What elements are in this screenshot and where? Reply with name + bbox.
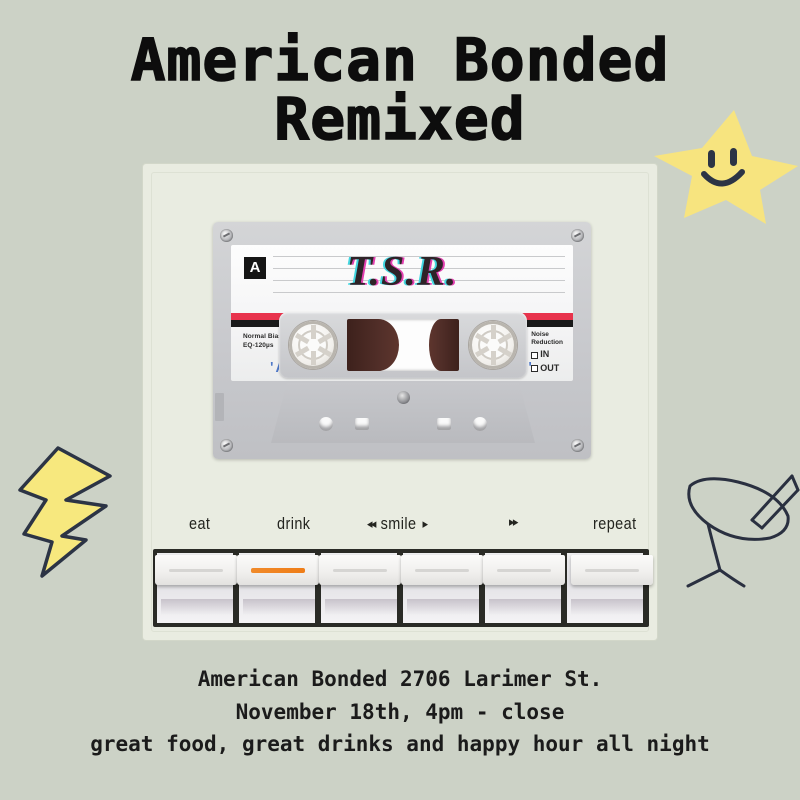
bias-line-2: EQ-120µs (243, 342, 282, 351)
button-cap[interactable] (483, 555, 565, 585)
cassette-player-panel: A T.S.R. Normal Bias EQ-120µs Noise Redu… (142, 163, 658, 641)
transport-button-drink[interactable] (237, 551, 317, 625)
venue-address: American Bonded 2706 Larimer St. (0, 663, 800, 696)
button-cap[interactable] (401, 555, 483, 585)
screw-icon (571, 439, 584, 452)
capstan-hole (319, 417, 333, 431)
transport-button-repeat[interactable] (565, 551, 645, 625)
button-cap[interactable] (237, 555, 319, 585)
transport-label-drink: drink (277, 514, 310, 534)
transport-button-eat[interactable] (155, 551, 235, 625)
transport-button-play[interactable] (401, 551, 481, 625)
noise-title-line-1: Noise (531, 331, 563, 339)
reel-left (289, 321, 337, 369)
reel-right (469, 321, 517, 369)
button-groove (415, 569, 469, 572)
button-cap[interactable] (155, 555, 237, 585)
event-date-time: November 18th, 4pm - close (0, 696, 800, 729)
button-groove (585, 569, 639, 572)
transport-label-smile: smile (381, 514, 417, 534)
button-groove (169, 569, 223, 572)
transport-button-bar (153, 549, 649, 627)
screw-icon (220, 229, 233, 242)
tape-window (347, 319, 459, 371)
capstan-hole (473, 417, 487, 431)
screw-icon (571, 229, 584, 242)
transport-label-eat: eat (189, 514, 210, 534)
transport-button-fast-forward[interactable] (483, 551, 563, 625)
button-groove (497, 569, 551, 572)
cassette-lower-deck (271, 383, 535, 443)
button-wear (489, 599, 561, 615)
cocktail-glass-icon (674, 462, 800, 588)
event-details: American Bonded 2706 Larimer St. Novembe… (0, 663, 800, 761)
rewind-icon: ◂◂ (367, 516, 375, 532)
transport-button-rewind[interactable] (319, 551, 399, 625)
write-protect-tab (215, 393, 224, 421)
button-wear (161, 599, 233, 615)
transport-label-smile-group: ◂◂ smile ▸ (367, 514, 426, 534)
button-cap[interactable] (319, 555, 401, 585)
play-icon: ▸ (422, 516, 426, 532)
button-indicator (251, 568, 305, 573)
cassette-tape: A T.S.R. Normal Bias EQ-120µs Noise Redu… (213, 222, 591, 459)
button-wear (243, 599, 315, 615)
tape-spool-left (347, 319, 399, 371)
screw-icon (220, 439, 233, 452)
cassette-window (279, 312, 527, 378)
bias-line-1: Normal Bias (243, 333, 282, 342)
cassette-title: T.S.R. (231, 248, 573, 296)
headline-line-1: American Bonded (0, 34, 800, 87)
transport-label-repeat: repeat (593, 514, 637, 534)
button-wear (407, 599, 479, 615)
alignment-hole (437, 418, 451, 430)
poster-canvas: American Bonded Remixed (0, 0, 800, 800)
tape-spool-right (429, 319, 459, 371)
screw-icon (397, 391, 410, 404)
noise-title-line-2: Reduction (531, 339, 563, 347)
alignment-hole (355, 418, 369, 430)
button-wear (325, 599, 397, 615)
bias-info: Normal Bias EQ-120µs (243, 333, 282, 351)
event-description: great food, great drinks and happy hour … (0, 728, 800, 761)
lightning-bolt-icon (14, 442, 126, 580)
fast-forward-icon: ▸▸ (509, 514, 517, 530)
button-cap[interactable] (571, 555, 653, 585)
smiley-star-icon (648, 104, 800, 226)
button-wear (571, 599, 643, 615)
transport-labels: eat drink ◂◂ smile ▸ ▸▸ repeat (155, 514, 647, 540)
button-groove (333, 569, 387, 572)
checkbox-in[interactable] (531, 352, 538, 359)
